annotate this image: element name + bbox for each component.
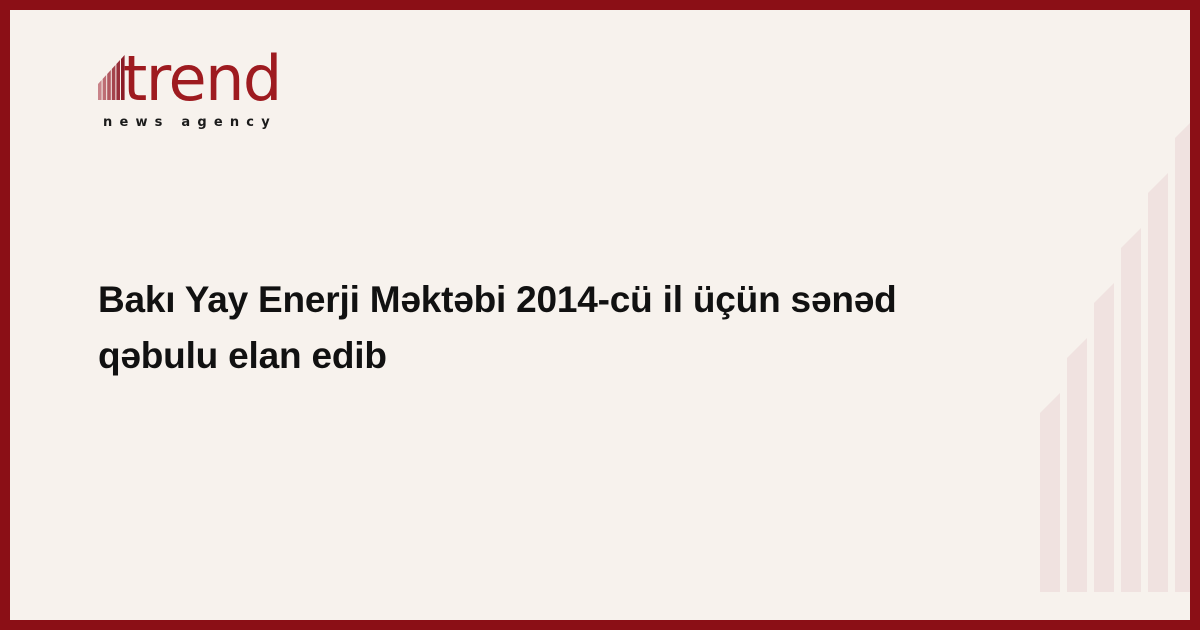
logo-tagline: news agency (103, 116, 277, 130)
watermark-bar-1 (1040, 393, 1060, 592)
watermark-bar-5 (1148, 173, 1168, 592)
headline-title: Bakı Yay Enerji Məktəbi 2014-cü il üçün … (98, 272, 968, 384)
card-inner-surface: trend news agency Bakı Yay Enerji Məktəb… (10, 10, 1190, 620)
brand-logo[interactable]: trend news agency (98, 48, 298, 138)
social-share-card: trend news agency Bakı Yay Enerji Məktəb… (0, 0, 1200, 630)
watermark-bar-2 (1067, 338, 1087, 592)
watermark-bar-4 (1121, 228, 1141, 592)
logo-bars-svg (98, 54, 126, 100)
ascending-bars-icon (98, 54, 126, 105)
logo-wordmark: trend (123, 48, 281, 110)
logo-lockup: trend news agency (98, 48, 298, 138)
ascending-bars-watermark (1015, 10, 1190, 620)
watermark-bars-svg (1015, 10, 1190, 620)
watermark-bar-6 (1175, 118, 1190, 592)
watermark-bar-3 (1094, 283, 1114, 592)
